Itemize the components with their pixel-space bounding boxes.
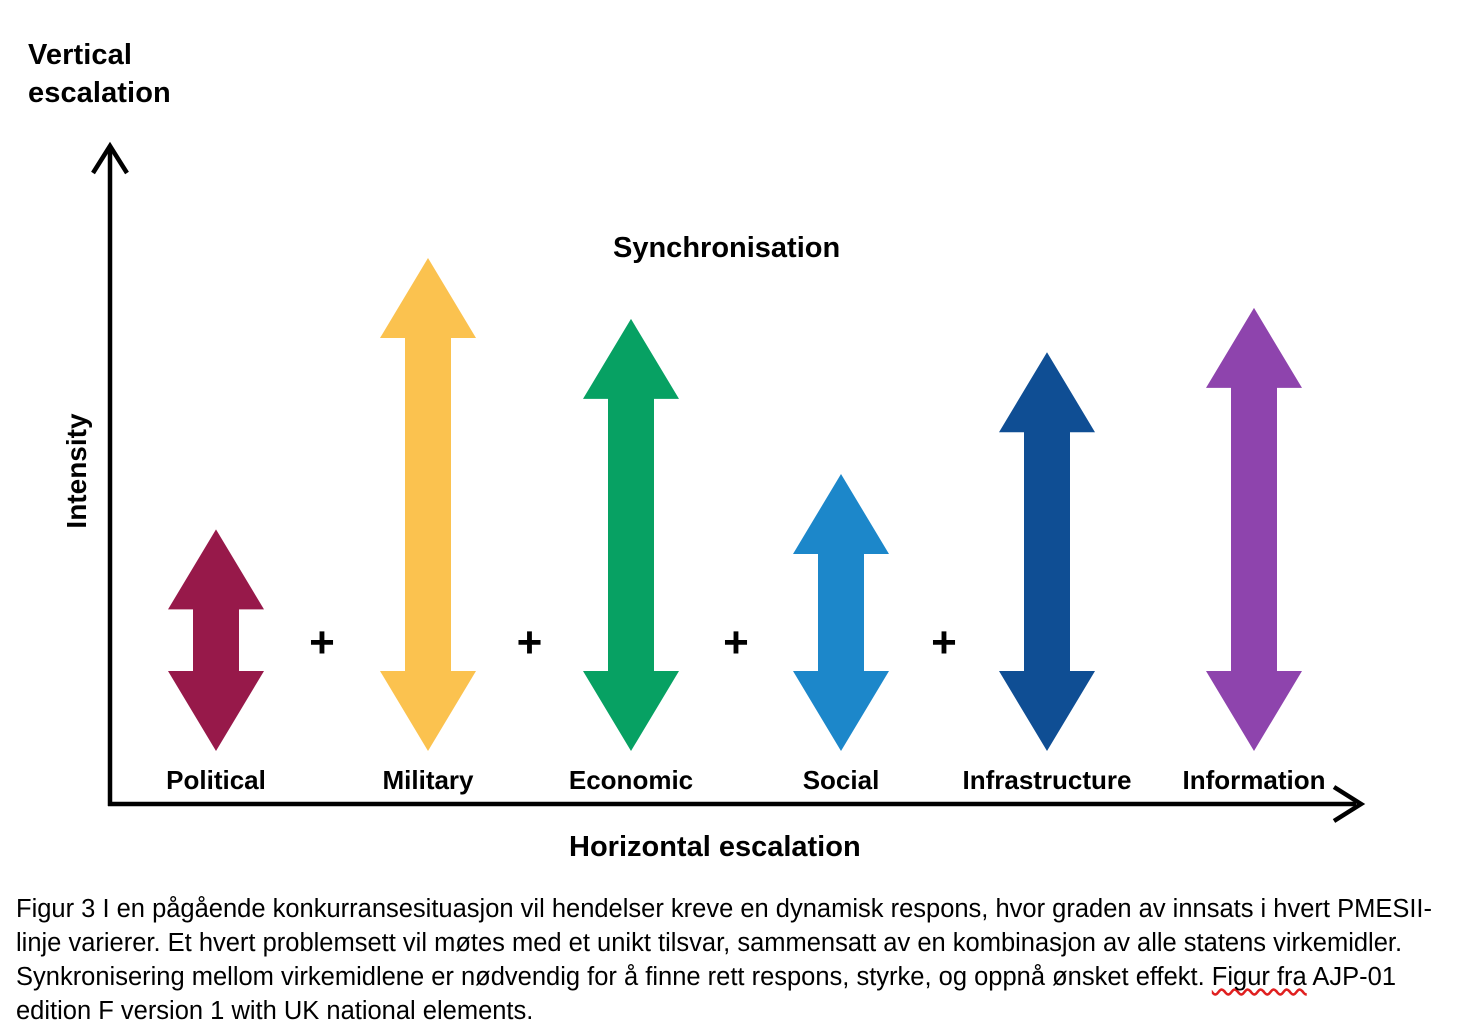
plus-separator-1: +	[309, 621, 335, 665]
intensity-arrows	[0, 0, 1466, 880]
category-label-political: Political	[166, 765, 266, 796]
intensity-arrow-economic	[583, 319, 679, 751]
y-axis-title: Verticalescalation	[28, 36, 171, 113]
category-label-military: Military	[382, 765, 473, 796]
category-label-economic: Economic	[569, 765, 693, 796]
pmesii-escalation-diagram: Verticalescalation Intensity Synchronisa…	[0, 0, 1466, 880]
intensity-arrow-information	[1206, 308, 1302, 751]
category-label-information: Information	[1183, 765, 1326, 796]
y-axis-title-line-2: escalation	[28, 74, 171, 112]
x-axis-label: Horizontal escalation	[569, 831, 861, 864]
plus-separator-4: +	[931, 621, 957, 665]
y-axis-title-line-1: Vertical	[28, 36, 171, 74]
synchronisation-label: Synchronisation	[613, 232, 840, 265]
y-axis-label: Intensity	[61, 391, 93, 551]
intensity-arrow-military	[380, 258, 476, 751]
plus-separator-3: +	[723, 621, 749, 665]
intensity-arrow-social	[793, 474, 889, 751]
intensity-arrow-infrastructure	[999, 352, 1095, 751]
figure-caption: Figur 3 I en pågående konkurransesituasj…	[16, 893, 1440, 1029]
category-label-infrastructure: Infrastructure	[962, 765, 1131, 796]
category-label-social: Social	[803, 765, 880, 796]
caption-misspelled-phrase: Figur fra	[1212, 963, 1307, 991]
plus-separator-2: +	[517, 621, 543, 665]
intensity-arrow-political	[168, 529, 264, 751]
